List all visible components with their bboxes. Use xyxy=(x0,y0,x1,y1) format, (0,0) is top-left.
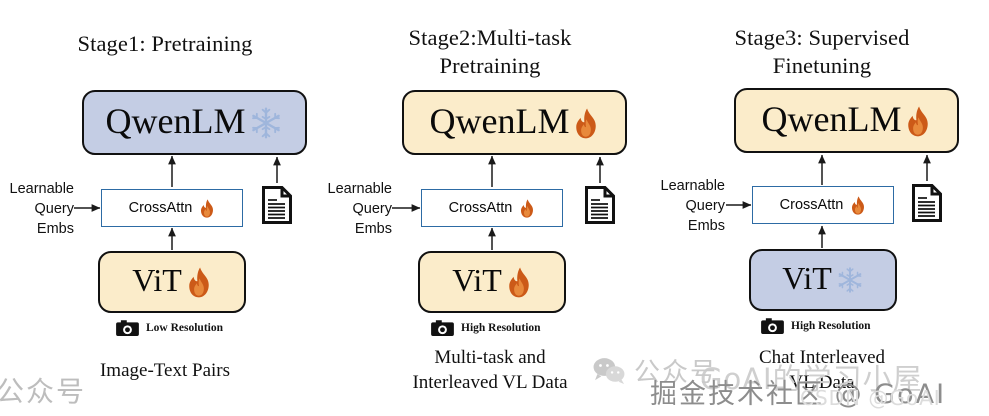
crossattn-label-stage1: CrossAttn xyxy=(129,201,193,216)
camera-caption-stage1: Low Resolution xyxy=(115,318,223,337)
vit-box-stage2[interactable]: ViT xyxy=(418,251,566,313)
qwenlm-label-stage3: QwenLM xyxy=(762,101,902,137)
stage-caption-2: Multi-task and Interleaved VL Data xyxy=(320,345,660,395)
crossattn-label-stage2: CrossAttn xyxy=(449,201,513,216)
fire-icon xyxy=(186,267,212,297)
camera-label-stage3: High Resolution xyxy=(791,320,871,332)
diagram-canvas: Stage1: Pretraining QwenLM xyxy=(0,0,989,416)
stage-panel-1: Stage1: Pretraining QwenLM xyxy=(0,0,330,416)
crossattn-box-stage2[interactable]: CrossAttn xyxy=(421,189,563,227)
vit-label-stage3: ViT xyxy=(782,262,832,294)
qwenlm-box-stage2[interactable]: QwenLM xyxy=(402,90,627,155)
crossattn-label-stage3: CrossAttn xyxy=(780,198,844,213)
fire-icon xyxy=(850,196,866,215)
camera-label-stage2: High Resolution xyxy=(461,322,541,334)
camera-icon xyxy=(760,316,785,335)
camera-caption-stage3: High Resolution xyxy=(760,316,871,335)
stage-title-1: Stage1: Pretraining xyxy=(0,30,330,58)
learnable-query-embs-label-stage2: Learnable Query Embs xyxy=(320,179,392,239)
qwenlm-label-stage2: QwenLM xyxy=(430,103,570,139)
vit-box-stage3[interactable]: ViT xyxy=(749,249,897,311)
qwenlm-box-stage1[interactable]: QwenLM xyxy=(82,90,307,155)
crossattn-box-stage3[interactable]: CrossAttn xyxy=(752,186,894,224)
learnable-query-embs-label-stage3: Learnable Query Embs xyxy=(655,176,725,236)
vit-box-stage1[interactable]: ViT xyxy=(98,251,246,313)
fire-icon xyxy=(519,199,535,218)
fire-icon xyxy=(573,108,599,138)
document-icon xyxy=(912,184,942,222)
learnable-query-embs-label-stage1: Learnable Query Embs xyxy=(2,179,74,239)
camera-caption-stage2: High Resolution xyxy=(430,318,541,337)
qwenlm-label-stage1: QwenLM xyxy=(106,103,246,139)
stage-caption-3: Chat Interleaved VL Data xyxy=(655,345,989,395)
snowflake-icon xyxy=(249,106,283,140)
snowflake-icon xyxy=(836,266,864,294)
vit-label-stage2: ViT xyxy=(452,264,502,296)
camera-icon xyxy=(430,318,455,337)
stage-title-3: Stage3: Supervised Finetuning xyxy=(655,24,989,80)
crossattn-box-stage1[interactable]: CrossAttn xyxy=(101,189,243,227)
stage-caption-1: Image-Text Pairs xyxy=(0,358,330,383)
vit-label-stage1: ViT xyxy=(132,264,182,296)
stage-panel-3: Stage3: Supervised Finetuning QwenLM xyxy=(655,0,989,416)
fire-icon xyxy=(905,106,931,136)
stage-title-2: Stage2:Multi-task Pretraining xyxy=(320,24,660,80)
document-icon xyxy=(262,186,292,224)
fire-icon xyxy=(506,267,532,297)
camera-icon xyxy=(115,318,140,337)
fire-icon xyxy=(199,199,215,218)
qwenlm-box-stage3[interactable]: QwenLM xyxy=(734,88,959,153)
document-icon xyxy=(585,186,615,224)
stage-panel-2: Stage2:Multi-task Pretraining QwenLM xyxy=(320,0,660,416)
camera-label-stage1: Low Resolution xyxy=(146,322,223,334)
